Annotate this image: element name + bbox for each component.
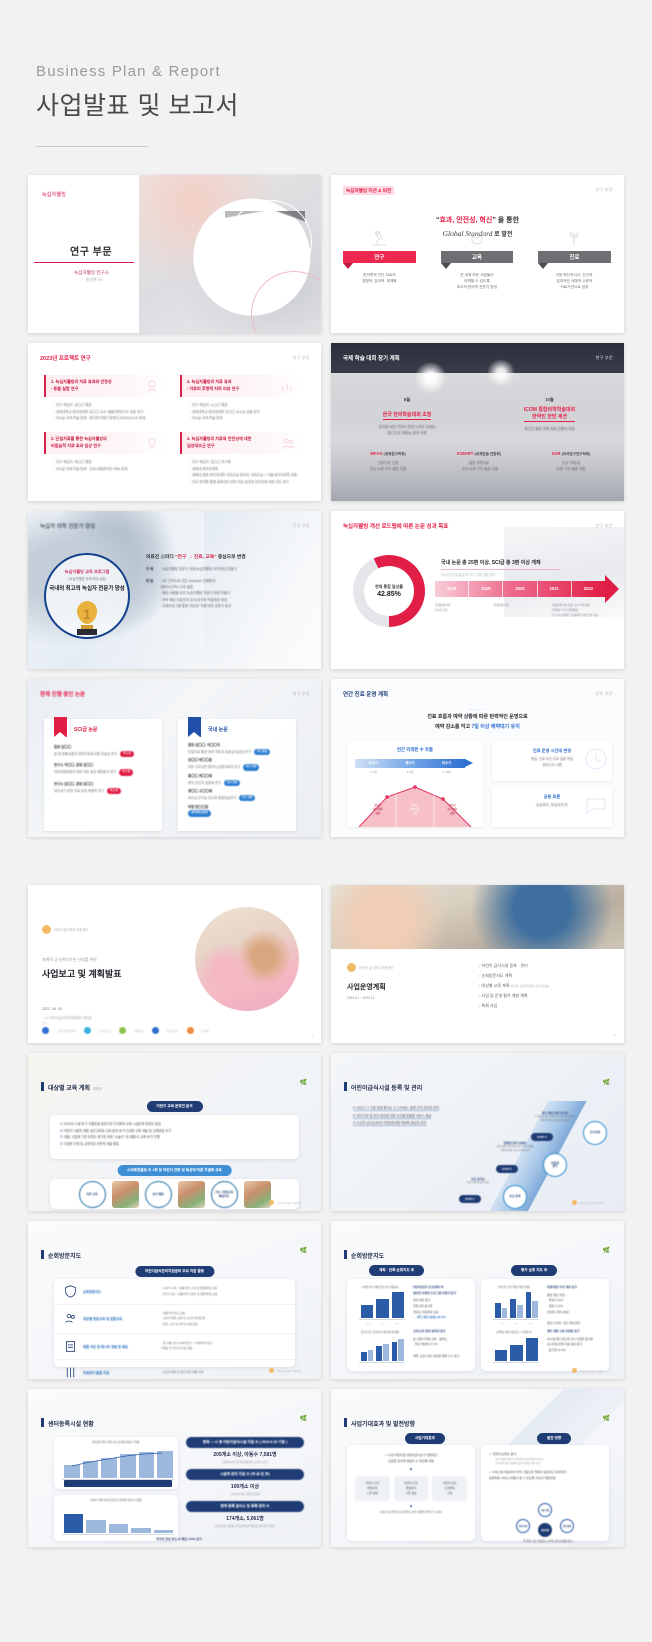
- season-label: 비수기: [428, 759, 465, 768]
- study-key: 주 제: [146, 566, 160, 572]
- paper-item: 정〇〇 고〇〇재 대사성 간기능 비교와 한방임상연구 연구 진행: [188, 789, 290, 801]
- section-badge: 어린이급식관리지원센터 주요 지원 활동: [135, 1266, 214, 1277]
- effect-chip: 어린이 급식 위생관리 수준 향상: [394, 1476, 429, 1500]
- education-circle: 요리 체험: [145, 1181, 172, 1208]
- slide-thumbnail-1[interactable]: 녹십자웰빙 연구 부문 녹십자웰빙 연구소 중앙연구소: [28, 175, 321, 333]
- org-desc: 전문가로 선정 우수 논문 구두 발표 지원: [343, 460, 433, 472]
- activity-label: 제철 식단 및 레시피 개발 및 제공: [83, 1344, 161, 1349]
- study-head-pre: 의료진 스터디: [146, 555, 175, 560]
- bar: [376, 1299, 388, 1318]
- title-accent-bar: [344, 1082, 347, 1091]
- slide-subtitle-2: 중앙연구소: [86, 278, 103, 283]
- footer-logo-text: 어린이 급식관리 지원센터: [579, 1201, 604, 1205]
- bar-group: [361, 1335, 373, 1361]
- slide-thumbnail-2[interactable]: 녹십자웰빙 미션 & 비전 연구 부문 “효과, 안전성, 혁신” 을 통한 G…: [331, 175, 624, 333]
- bar-group: [86, 1509, 105, 1533]
- svg-text:1: 1: [83, 606, 91, 622]
- goal-underline: [441, 569, 561, 570]
- bar: [495, 1350, 507, 1361]
- chart-legend-bar: [64, 1480, 172, 1487]
- education-circle: 이론 교육: [79, 1181, 106, 1208]
- paper-item: 연구소 이〇〇, 원장 김〇〇 아토피피부염의 비만 치료 효과 메타분석 연구…: [54, 763, 156, 775]
- bar: [64, 1514, 83, 1533]
- paper-author: 원장 김〇〇, 이〇〇지: [188, 743, 290, 749]
- tool-icon: [64, 1366, 77, 1379]
- chart-2: [급식시설 급식관리 개선/환경현황]: [351, 1327, 409, 1369]
- chart-bars: [495, 1288, 538, 1318]
- patient-flow-panel: 연간 외래환 수 흐름 성수기 평수기 비수기 1~4월 5~8월 9~12월: [347, 741, 483, 827]
- bullet: · 2학기 이후 : 식품/안전 2회차 및 영양/위생 교육: [161, 1292, 217, 1297]
- clock-icon: [584, 747, 608, 771]
- peak-labels: 성수기 30~35명 내외 성수기 40건이상 유지 비수기 25~30명 내외: [359, 803, 471, 815]
- timeline-arrow: 2018 2019 2020 2021 2022: [435, 581, 605, 597]
- slide-thumbnail-15[interactable]: 센터등록시설 현황 🌿 [연도별 센터 지원시설 및 등록아동수 현황]: [28, 1389, 321, 1547]
- research-bullets-3: 연구 책임자: 노〇〇 원장 경희대학교 한의과대학 이〇〇 교수님 공동 연구…: [190, 402, 300, 422]
- status-badge: 투고 중: [119, 769, 133, 775]
- slide-row: 순회방문지도 🌿 어린이급식관리지원센터 주요 지원 활동 순회방문지도 · 1…: [28, 1221, 624, 1379]
- slide-date: 2023. 06. 03: [42, 1007, 62, 1011]
- check-item: 관리기관 및 관리 담당제 지원 신규별 맞춤형 서비스 제공: [353, 1113, 503, 1121]
- slide-corner-label: 연구 부문: [293, 355, 310, 361]
- effect-chip: 어린이 급식 지자체적 구축: [432, 1476, 467, 1500]
- people-icon: [281, 436, 295, 450]
- quote-highlight: 효과, 안전성, 혁신: [439, 217, 492, 224]
- paper-author: 강〇〇 박〇〇원: [188, 758, 290, 764]
- research-icon: [145, 379, 159, 393]
- bar: [532, 1301, 538, 1318]
- slide-title: 사업기대효과 및 발전방향: [351, 1419, 415, 1428]
- step-2-text: 맞춤형 관리 컨설팅 현재 개별 사항/순환 검사 상담 방법별 "개인의 맞춤…: [477, 1141, 553, 1153]
- study-head-post: 중심으로 변경: [217, 555, 246, 560]
- page-eyebrow: Business Plan & Report: [36, 62, 652, 82]
- paper-item: 부원 한〇〇원 경희대학교병원: [188, 805, 290, 817]
- chart-axis: [62, 1534, 174, 1535]
- step-3-text: 정기 확인 관리 모니터 1~2일/월 정기 위생 안전 점검 관리 及 후 "…: [517, 1111, 593, 1123]
- slide-thumbnail-10[interactable]: 어린이 급식관리 지원센터 사업운영계획 2023.01 ~ 2023.12 어…: [331, 885, 624, 1043]
- logo-mark-icon: [572, 1200, 577, 1205]
- slide-group-childcare: 어린이 급식관리 지원센터 체계적 급식관리기관 신뢰를 위한 사업보고 및 계…: [0, 885, 652, 1547]
- slide-row: 녹십자 의학 전문가 양성 진료 부문 녹십자웰빙 교육 프로그램 (녹십자웰빙…: [28, 511, 624, 669]
- slide-title: 녹십자웰빙 개선 로드맵에 따른 논문 성과 목표: [343, 522, 448, 530]
- bar-group: [131, 1509, 150, 1533]
- bar-group: [154, 1509, 173, 1533]
- chart-title: [만족도 평가/개선도 / 시설평가]: [485, 1327, 543, 1334]
- vision-column-2: 교육 전 세계 모든 사람들이 이해할 수 있도록 최고의 한의학 전문가 양성: [429, 251, 526, 291]
- quote-close: ” 을 통한: [492, 217, 519, 224]
- month-labels: 1~4월 5~8월 9~12월: [355, 770, 465, 774]
- hex-diagram: 기술 지원 인력 양성 지역 협력 핵심과제: [516, 1503, 574, 1537]
- org-full-text: (세계침술 연합회): [474, 452, 501, 456]
- card-title: SCI급 논문: [74, 726, 98, 733]
- headline-hl: 7일 이상 예약대기 유지: [472, 724, 520, 730]
- chart-title: [2024 전체 어린이급식소 유형별 관리/수 현황]: [54, 1495, 178, 1502]
- bullet: SCI급 국제 저널 등재: [190, 415, 300, 422]
- research-card-4: 4. 녹십자웰빙의 치료와 안전성에 대한 임상대조군 연구: [180, 432, 300, 454]
- direction-panel: ✓ 학술적 순회도 분석 기존 사업운영분석 자료적용 업무지원 분석하고 지속…: [481, 1445, 609, 1541]
- paper-list: 원장 김〇〇, 이〇〇지 단일치료 통한 비만 치료의 유효성 임상성 연구 투…: [188, 743, 290, 817]
- microscope-photo: [139, 175, 321, 333]
- graduate-icon: [429, 229, 526, 247]
- microscope-icon: [331, 229, 428, 247]
- activity-row: 대상별 방문교육 및 집합교육 · 아동/어린이집 교육 · 조리자 위생 교육…: [54, 1305, 295, 1334]
- paper-desc: 단일치료 통한 비만 치료의 유효성 임상성 연구: [188, 750, 251, 754]
- vision-column-1: 연구 한의학적 진단 치료의 경험적, 효과적, 체계화: [331, 251, 428, 285]
- stat-badge-2: 시설적 관리 지원 수 (국·공·민 外): [186, 1469, 304, 1480]
- bullet: 연구 책임자: 김〇〇 연구원: [190, 459, 308, 466]
- bullet: 연구 책임자: 노〇〇 원장: [190, 402, 300, 409]
- agenda-label: 사업 및 운영 평가 개발 계획: [482, 993, 528, 998]
- slide-title: 순회방문지도: [48, 1251, 81, 1260]
- page-number: 2: [615, 1034, 616, 1037]
- logo-mark-icon: [269, 1200, 274, 1205]
- chart-icon: [281, 379, 295, 393]
- event-month: 10월: [487, 397, 612, 403]
- hex-node: 지역 협력: [560, 1519, 574, 1533]
- slide-org: ○○시 어린이급식관리지원센터 센터장 ○○○: [42, 1016, 92, 1027]
- step-tag: STEP 2: [496, 1165, 518, 1173]
- org-full-text: (세계침구학회): [384, 452, 406, 456]
- status-badge: 연구 진행: [224, 780, 240, 786]
- stat-footer: 지역의 관심 정도 수 매년 120% 증가: [54, 1537, 304, 1541]
- donut-value: 42.85%: [377, 591, 401, 598]
- bar: [109, 1524, 128, 1533]
- timeline-year: 2022: [572, 581, 605, 597]
- slide-group-research: 녹십자웰빙 연구 부문 녹십자웰빙 연구소 중앙연구소 녹십자웰빙 미션 & 비…: [0, 175, 652, 837]
- slide-row: 2023년 프로젝트 연구 연구 부문 1. 녹십자웰빙의 치료 효과와 안정성…: [28, 343, 624, 501]
- event-name: 한국 한의학술대회 초청: [383, 411, 432, 420]
- education-circle: 기초 / 영양교육 체험키트: [211, 1181, 238, 1208]
- goal-subtext: 2023년 목표 달성 후 추가 기준 상향 검토: [441, 572, 495, 577]
- paper-author: 연구소 김〇〇, 원장 김〇〇: [54, 782, 156, 788]
- event-month: 8월: [347, 397, 467, 403]
- agenda-label: 어린이 급식시설 등록 · 관리: [482, 963, 528, 968]
- paper-author: 원장 김〇〇: [54, 745, 156, 751]
- slide-corner-label: 진료 부문: [293, 523, 310, 529]
- bar-group: [526, 1288, 538, 1318]
- slide-row: 센터등록시설 현황 🌿 [연도별 센터 지원시설 및 등록아동수 현황]: [28, 1389, 624, 1547]
- timeline-note: 국내논문 4편, SCI급 2편: [435, 603, 493, 618]
- bar: [392, 1292, 404, 1318]
- slide-thumbnail-5[interactable]: 녹십자 의학 전문가 양성 진료 부문 녹십자웰빙 교육 프로그램 (녹십자웰빙…: [28, 511, 321, 669]
- bar-group: [510, 1288, 522, 1318]
- education-photo: [244, 1181, 271, 1208]
- step-tag: STEP 3: [531, 1133, 553, 1141]
- effect-chip: 어린이 급식 운영관리 수준 향상: [355, 1476, 390, 1500]
- stat-value-2: 100개소 이상: [186, 1483, 304, 1490]
- bar-group: [526, 1335, 538, 1361]
- stat-value-3: 174개소, 5,061명: [186, 1515, 304, 1522]
- bookmark-icon: [54, 717, 67, 737]
- slide-title-note: 어린이: [93, 1087, 102, 1091]
- bar: [526, 1338, 538, 1361]
- logo-mark-icon: [269, 1368, 274, 1373]
- note-highlight: → 처리 개선 (全比) 88.2%: [413, 1315, 446, 1319]
- leaf-decoration-icon: 🌿: [300, 1415, 307, 1422]
- step-circle: 모니터링: [583, 1121, 607, 1145]
- trophy-icon: 1: [66, 597, 108, 639]
- paper-author: 정〇〇 고〇〇재: [188, 789, 290, 795]
- conference-org-3: SAR (미국침구연구학회) 신규 기획 및 논문 구두 발표 지원: [525, 451, 617, 472]
- note-head: 센터 개발 시설 사업율 증가: [547, 1329, 579, 1333]
- activity-row: 제철 식단 및 레시피 개발 및 제공 · 월 10종 식단 (A/B타입/C,…: [54, 1334, 295, 1360]
- slide-thumbnail-3[interactable]: 2023년 프로젝트 연구 연구 부문 1. 녹십자웰빙의 치료 효과와 안정성…: [28, 343, 321, 501]
- page-title: 사업발표 및 보고서: [36, 90, 652, 123]
- vision-column-desc: 가장 혁신적이고, 인간적, 효과적인 세계적 수준의 의료기관으로 성장: [526, 273, 623, 291]
- bullet: 비교 한의원 통해 경희대의 비만 치료 효과와 안전성에 대한 선도 연구: [190, 479, 308, 486]
- effect-panel: ○○시의 어린이집 어린이급식소가 안전하고 건강한 급식을 제공할 수 있도록…: [347, 1445, 475, 1541]
- title-accent-bar: [344, 1418, 347, 1427]
- bullet: 경희대 한의과대학: [190, 466, 308, 473]
- title-accent-bar: [344, 1250, 347, 1259]
- bar-group: [510, 1335, 522, 1361]
- paper-item: 강〇〇 박〇〇원 비만 고도비만 환자의 심층치료적 연구 연구 진행: [188, 758, 290, 770]
- bar-group: [376, 1288, 388, 1318]
- check-item: 어린이 식중독 예방 실무교육장 교육 참여 추가 다양한 교육 개발 및 교육…: [60, 1128, 289, 1135]
- support-activity-card: 순회방문지도 · 1/1년 1-2회 : 식품/안전 시설 및 영양/위생 교육…: [54, 1279, 295, 1367]
- logo-text: 어린이 급식관리 지원센터: [359, 965, 393, 970]
- slide-title: 연간 진료 운영 계획: [343, 690, 388, 698]
- timeline-note: 국내논문 9편 이상, SCI 7편 이상 (학회비 추가 지원예정) *단 S…: [552, 603, 610, 618]
- month-label: 5~8월: [392, 770, 429, 774]
- season-gradient-bar: 성수기 평수기 비수기: [355, 759, 465, 768]
- org-desc: 젊은 과학자상 · 우수 논문 구두 발표 지원: [433, 460, 525, 472]
- check-item: 소규모 급식소(50인 미만)에 대한 체계적 점검과 관리: [353, 1120, 503, 1128]
- slide-title: 사업운영계획: [347, 982, 393, 992]
- chart-title: [연도별 센터 지원시설 및 등록아동수 현황]: [54, 1437, 178, 1444]
- bullet: · 1/1년 1-2회 : 식품/안전 시설 및 영양/위생 교육: [161, 1286, 217, 1291]
- study-panel: 의료진 스터디 “연구 → 진료, 교육” 중심으로 변경 주 제 녹십자웰빙 …: [146, 553, 311, 609]
- chart-axis: [493, 1319, 539, 1320]
- hex-center: 핵심과제: [538, 1523, 552, 1537]
- slide-title: 녹십자 의학 전문가 양성: [40, 522, 95, 530]
- status-badge: 투고 중: [107, 788, 121, 794]
- chart-3: [어린이 급식 위생 개선/현황] 2021 2022 2023: [485, 1282, 543, 1326]
- xlabel: 2022: [375, 1323, 389, 1325]
- chart-xlabels: 2021 2022 2023: [361, 1323, 404, 1325]
- section-badge-2: 스마트한활용 주 1회 및 어린이 연령 및 특성에 따른 차별화 교육: [117, 1165, 232, 1176]
- conference-event-1: 8월 한국 한의학술대회 초청 안전한 비만 크리닉 운영 노하우 주제로 일〇…: [347, 397, 467, 436]
- chart-bars: [361, 1288, 404, 1318]
- activity-bullets: · 월 10종 식단 (A/B타입/C, 7-5세/아이/식단, 식재료 및 차…: [161, 1341, 213, 1352]
- vision-quote: “효과, 안전성, 혁신” 을 통한: [331, 215, 624, 225]
- bullet: SCI급 국제 저널 등재 · 임상시험(한국인 IRB) 등재: [54, 466, 164, 473]
- slide-thumbnail-12[interactable]: 어린이급식시설 등록 및 관리 🌿 2023.7.7 기준 등록 중식소 수 1…: [331, 1053, 624, 1211]
- vision-ribbon-label: 진료: [538, 251, 611, 263]
- paper-desc: 비만 고도비만 환자의 심층치료적 연구: [188, 765, 240, 769]
- check-item: 2023년 시설 추가 식품위생 점검기관 다각화와 교육 시설관계 운영안 점…: [60, 1121, 289, 1128]
- month-label: 9~12월: [428, 770, 465, 774]
- chart-2-note: 교육/교육 참여 실적의 증가 총 1개의 주제/ 교육 · 참여도 · 전년 …: [413, 1329, 470, 1359]
- stat-sub-2: [ 2024년 목표 기준치 달성 ]: [186, 1492, 304, 1496]
- highlight-circle: 녹십자웰빙 교육 프로그램 (녹십자웰빙 아카데미) 설립 국내외 최고의 녹십…: [44, 553, 130, 639]
- paper-card-sci: SCI급 논문 원장 김〇〇 침 및 부항요법의 비만치료에 대한 유효성 연구…: [44, 719, 162, 831]
- paper-desc: 한의 진단의 표준화 연구: [188, 781, 221, 785]
- bar: [361, 1352, 367, 1361]
- group-separator: [0, 847, 652, 885]
- status-badge: 연구 진행: [239, 795, 255, 801]
- vision-column-desc: 전 세계 모든 사람들이 이해할 수 있도록 최고의 한의학 전문가 양성: [429, 273, 526, 291]
- slide-subtitle: 녹십자웰빙 연구소: [74, 270, 109, 276]
- title-accent-bar: [41, 1082, 44, 1091]
- chart-1-note: 어린이(민간 신규)변화 中 필요한 지원한 프로그램 사업의 증가 전년 대비…: [413, 1285, 470, 1321]
- leaf-decoration-icon: 🌿: [603, 1247, 610, 1254]
- timeline-notes: 국내논문 4편, SCI급 2편 국내논문 4편 국내논문 9편 이상, SCI…: [435, 603, 610, 618]
- education-photo: [178, 1181, 205, 1208]
- step-circle: 맞춤형 관리: [543, 1153, 567, 1177]
- step-desc: 현재 개별 사항/순환 검사 상담 방법별 "개인의 맞춤 관리 영양관리표": [477, 1145, 553, 1153]
- paper-item: 원장 김〇〇 침 및 부항요법의 비만치료에 대한 유효성 연구 투고 중: [54, 745, 156, 757]
- chart-axis: [359, 1319, 405, 1320]
- analysis-checklist: 2023년 시설 추가 식품위생 점검기관 다각화와 교육 시설관계 운영안 점…: [50, 1115, 299, 1154]
- bar: [510, 1299, 516, 1318]
- agenda-note: 어린이, 조리원 대상, 교사 워크숍: [511, 984, 549, 988]
- status-badge: 경희대학교병원: [188, 810, 211, 816]
- bullet: 연구 책임자: 김〇〇 원장: [54, 402, 164, 409]
- chart-card-1: [연도별 센터 지원시설 및 등록아동수 현황]: [54, 1437, 178, 1489]
- people-icon: [64, 1312, 77, 1325]
- research-bullets-4: 연구 책임자: 김〇〇 연구원 경희대 한의과대학 경희대 한방 한의과대학 내…: [190, 459, 308, 486]
- hex-node: 인력 양성: [516, 1519, 530, 1533]
- footer-logo-text: 어린이 급식관리 지원센터: [276, 1201, 301, 1205]
- goal-text: 국내 논문 총 25편 이상, SCI급 총 3편 이상 게재: [441, 559, 541, 566]
- donut-center: 현재 통합 달성률 42.85%: [364, 566, 414, 616]
- direction-bottom: 질 좋은 식단 제공율 & 지역 급식 달성률 증가: [488, 1539, 608, 1543]
- study-heading: 의료진 스터디 “연구 → 진료, 교육” 중심으로 변경: [146, 553, 311, 560]
- org-abbr-text: ICMART: [457, 451, 473, 456]
- slide-thumbnail-7[interactable]: 현재 진행 중인 논문 연구 부문 SCI급 논문 원장 김〇〇 침 및 부항요…: [28, 679, 321, 837]
- bar: [131, 1528, 150, 1533]
- paper-desc: 침 및 부항요법의 비만치료에 대한 유효성 연구: [54, 752, 117, 756]
- slide-row: 현재 진행 중인 논문 연구 부문 SCI급 논문 원장 김〇〇 침 및 부항요…: [28, 679, 624, 837]
- xlabel: 2023: [524, 1323, 538, 1325]
- study-value: 6주 간격으로 연간 research 진행하여 1회/6시간씩 2.3주 발표: [160, 578, 231, 590]
- header-divider: [36, 146, 148, 147]
- agenda-item: 특화 사업: [479, 1001, 549, 1011]
- conference-org-1: WFAS (세계침구학회) 전문가로 선정 우수 논문 구두 발표 지원: [343, 451, 433, 472]
- org-abbr: ICMART (세계침술 연합회): [433, 451, 525, 457]
- agenda-item: 대상별 교육 계획 어린이, 조리원 대상, 교사 워크숍: [479, 981, 549, 991]
- slide-corner-label: 연구 부문: [596, 187, 613, 193]
- status-badge: 투고 중: [120, 751, 134, 757]
- paper-desc: 아토피피부염의 비만 치료 효과 메타분석 연구: [54, 770, 116, 774]
- paper-item: 원장 김〇〇, 이〇〇지 단일치료 통한 비만 치료의 유효성 임상성 연구 투…: [188, 743, 290, 755]
- study-values: 6주 간격으로 연간 research 진행하여 1회/6시간씩 2.3주 발표…: [160, 578, 231, 609]
- slide-title: 2023년 프로젝트 연구: [40, 354, 91, 362]
- footer-logo-text: 어린이 급식관리 지원센터: [579, 1369, 604, 1373]
- circle-top-text: 녹십자웰빙 교육 프로그램: [46, 569, 128, 575]
- bullet: 식재료 및 차/간식사표 제공: [161, 1346, 213, 1351]
- step-tag: STEP 1: [459, 1195, 481, 1203]
- slide-eyebrow: 체계적 급식관리기관 신뢰를 위한: [42, 957, 97, 963]
- slide-thumbnail-14[interactable]: 순회방문지도 🌿 계획 · 만족 순회지도 中 시설별 총 수혜/급식시설 현황…: [331, 1221, 624, 1379]
- paper-item: 연구소 김〇〇, 원장 김〇〇 대사성기 비만 치료 효과 후향적 연구 투고 …: [54, 782, 156, 794]
- event-desc: 최〇〇 원장 포함 좌장 진행자 초청: [487, 426, 612, 432]
- bar-group: [495, 1335, 507, 1361]
- slide-thumbnail-4[interactable]: 국제 학술 대회 장기 계획 연구 부문 8월 한국 한의학술대회 초청 안전한…: [331, 343, 624, 501]
- slide-title: 대상별 교육 계획어린이: [48, 1083, 102, 1092]
- footer-logo: 어린이 급식관리 지원센터: [269, 1368, 301, 1373]
- chart-4: [만족도 평가/개선도 / 시설평가]: [485, 1327, 543, 1369]
- season-label: 성수기: [355, 759, 392, 768]
- direction-check-1: ✓ 학술적 순회도 분석 기존 사업운영분석 자료적용 업무지원 분석하고 지속…: [489, 1452, 601, 1467]
- slide-thumbnail-11[interactable]: 대상별 교육 계획어린이 🌿 어린이 교육 운영안 분석 2023년 시설 추가…: [28, 1053, 321, 1211]
- study-value: 교육프로그램 통해 의료진/ 직원 비만 전문가 양성: [160, 603, 231, 609]
- page-header: Business Plan & Report 사업발표 및 보고서: [0, 0, 652, 147]
- panel-title: 연간 외래환 수 흐름: [347, 741, 483, 753]
- partner-logo-icon: [119, 1027, 126, 1034]
- chart-bars: [64, 1509, 173, 1533]
- analysis-card: 2023년 시설 추가 식품위생 점검기관 다각화와 교육 시설관계 운영안 점…: [50, 1115, 299, 1159]
- bar: [510, 1345, 522, 1361]
- direction-checks: ✓ 학술적 순회도 분석 기존 사업운영분석 자료적용 업무지원 분석하고 지속…: [481, 1445, 609, 1482]
- activity-row: 순회방문지도 · 1/1년 1-2회 : 식품/안전 시설 및 영양/위생 교육…: [54, 1279, 295, 1305]
- leaf-decoration-icon: 🌿: [300, 1247, 307, 1254]
- brand-logo: 녹십자웰빙: [42, 191, 66, 198]
- paper-item: 홍〇〇 최〇〇태 한의 진단의 표준화 연구 연구 진행: [188, 774, 290, 786]
- effect-chips: 어린이 급식 운영관리 수준 향상 어린이 급식 위생관리 수준 향상 어린이 …: [347, 1472, 475, 1504]
- slide-row: 어린이 급식관리 지원센터 체계적 급식관리기관 신뢰를 위한 사업보고 및 계…: [28, 885, 624, 1043]
- photo-overlay: [331, 373, 624, 501]
- activity-bullets: · 조리실 위생 및 안전 관련 물품 지원: [161, 1370, 203, 1375]
- slide-thumbnail-16[interactable]: 사업기대효과 및 발전방향 🌿 사업기대효과 ○○시의 어린이집 어린이급식소가…: [331, 1389, 624, 1547]
- note-body: 평균 개선 지표 ↑ · 위생 0.41% · 영양 1.24% (전년도 대비…: [547, 1293, 604, 1327]
- slide-title: 국제 학술 대회 장기 계획: [343, 354, 400, 362]
- bullet: · 원장, 교사 및 학부모 대상교육: [161, 1322, 205, 1327]
- agenda-item: 순회방문지도 계획: [479, 971, 549, 981]
- panel-left: 시설별 총 수혜/급식시설 현황(총) 2021 2022 2023: [347, 1279, 475, 1371]
- panel-badge-left: 사업기대효과: [405, 1433, 445, 1444]
- paper-list: 원장 김〇〇 침 및 부항요법의 비만치료에 대한 유효성 연구 투고 중 연구…: [54, 745, 156, 794]
- stat-badge-1: 현재 ○○시 총 어린이급식시설 지원 수 ( 2024.6.30 기준 ): [186, 1437, 304, 1448]
- agenda-item: 사업 및 운영 평가 개발 계획: [479, 991, 549, 1001]
- step-desc: 1~2일/월 정기 위생 안전 점검 관리 及 후 "HACCP적 등록 관리의…: [517, 1115, 593, 1123]
- slide-thumbnail-8[interactable]: 연간 진료 운영 계획 진료 부문 ···· 진료 흐름과 예약 상황에 따른 …: [331, 679, 624, 837]
- slide-thumbnail-9[interactable]: 어린이 급식관리 지원센터 체계적 급식관리기관 신뢰를 위한 사업보고 및 계…: [28, 885, 321, 1043]
- stat-value-1: 205개소 이상, 아동수 7,581명: [186, 1451, 304, 1458]
- logo-mark-icon: [42, 925, 51, 934]
- activity-label: 위생관리 물품 지원: [83, 1370, 161, 1375]
- org-abbr: SAR (미국침구연구학회): [525, 451, 617, 457]
- vision-column-desc: 한의학적 진단 치료의 경험적, 효과적, 체계화: [331, 273, 428, 285]
- bar-group: [361, 1288, 373, 1318]
- slide-thumbnail-6[interactable]: 녹십자웰빙 개선 로드맵에 따른 논문 성과 목표 연구 부문 현재 통합 달성…: [331, 511, 624, 669]
- org-full-text: (미국침구연구학회): [562, 452, 591, 456]
- status-badge: 투고 완료: [254, 749, 270, 755]
- registration-checklist: 2023.7.7 기준 등록 중식소 수 174개소; 등록 수칙 관리로 관리…: [353, 1105, 503, 1128]
- effect-bottom: 어린이 및 학부모/조리사업자 안전 지원책 만족 만 수 20%: [347, 1509, 475, 1517]
- bullet: 경희대학교 한의과대학 이〇〇 교수님 공동 연구: [190, 409, 300, 416]
- slide-title: 센터등록시설 현황: [48, 1419, 94, 1428]
- center-logo: 어린이 급식관리 지원센터: [42, 925, 88, 934]
- education-photo: [112, 1181, 139, 1208]
- bar-group: [495, 1288, 507, 1318]
- note-body: 전년 대비 증가 지원사업 증가율 전년도 지표대비 상승: [413, 1298, 470, 1315]
- check-item: 2023.7.7 기준 등록 중식소 수 174개소; 등록 수칙 관리로 관리: [353, 1105, 503, 1113]
- panel-badge-right: 발전 방향: [537, 1433, 571, 1444]
- stat-sub-3: [ 아동학대 식품에, 우수등록기관 확대 및 유지기반 확충 ]: [186, 1524, 304, 1528]
- vision-ribbon-label: 연구: [343, 251, 416, 263]
- title-underline: [34, 262, 134, 263]
- footer-logo-text: 어린이 급식관리 지원센터: [276, 1369, 301, 1373]
- paper-desc: 대사성기 비만 치료 효과 후향적 연구: [54, 789, 104, 793]
- trend-line: [64, 1450, 172, 1478]
- chart-xlabels: 2021 2022 2023: [495, 1323, 538, 1325]
- org-abbr-text: SAR: [552, 451, 561, 456]
- research-card-1: 1. 녹십자웰빙의 치료 효과와 안정성 - 동물 실험 연구: [44, 375, 164, 397]
- slide-thumbnail-13[interactable]: 순회방문지도 🌿 어린이급식관리지원센터 주요 지원 활동 순회방문지도 · 1…: [28, 1221, 321, 1379]
- vision-column-3: 진료 가장 혁신적이고, 인간적, 효과적인 세계적 수준의 의료기관으로 성장: [526, 251, 623, 291]
- slide-corner-label: 연구 부문: [596, 355, 613, 361]
